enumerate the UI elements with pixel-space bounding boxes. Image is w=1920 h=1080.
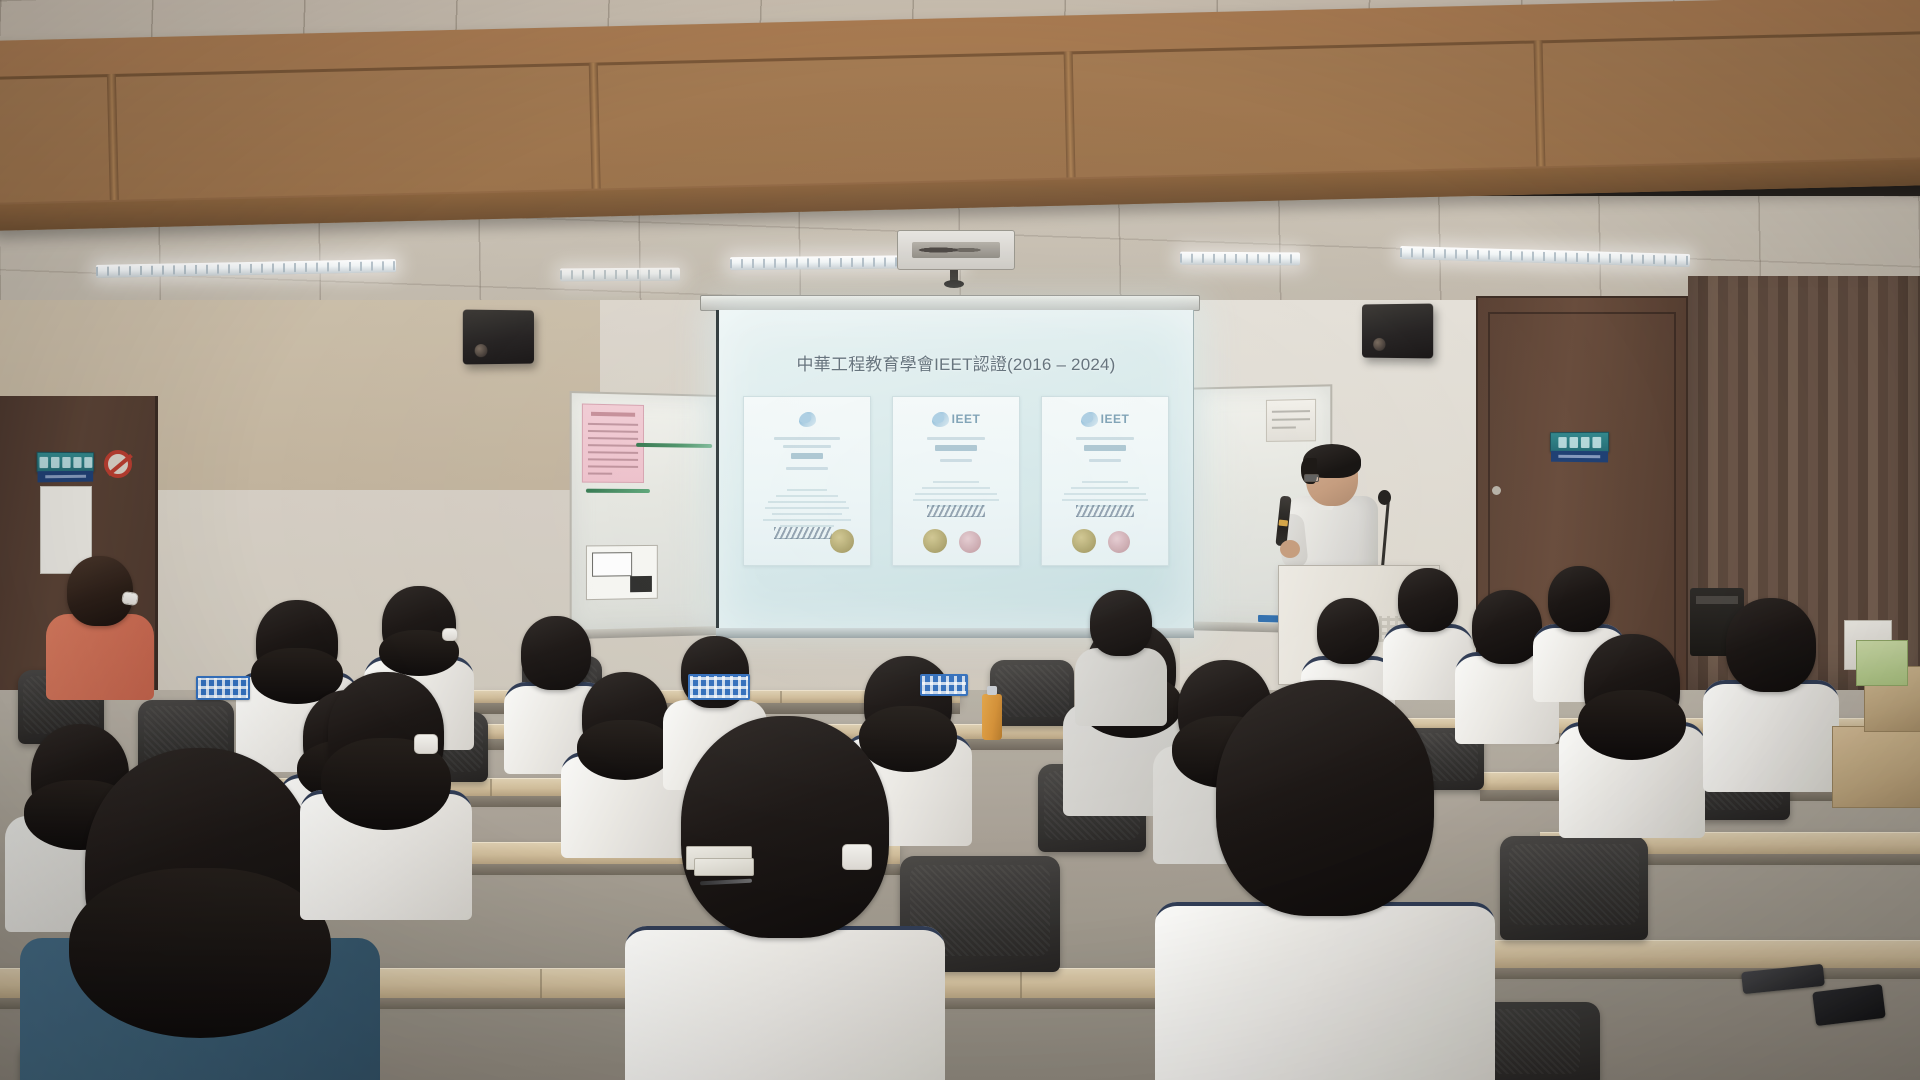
blue-basket-1[interactable] (196, 676, 250, 700)
blue-basket-3[interactable] (920, 674, 968, 696)
student-head (681, 716, 889, 938)
student-hair (69, 868, 331, 1038)
left-whiteboard (570, 391, 718, 633)
fluorescent-light-right (1180, 252, 1300, 266)
right-wall-speaker (1362, 304, 1433, 359)
whiteboard-magnet-strip-1 (636, 443, 712, 448)
face-mask (842, 844, 872, 870)
face-mask (442, 628, 458, 641)
cert1-logo (744, 408, 870, 430)
student-hair (1578, 690, 1686, 760)
drink-bottle[interactable] (982, 694, 1002, 740)
slide-title: 中華工程教育學會IEET認證(2016 – 2024) (719, 350, 1193, 375)
right-room-sign (1550, 432, 1609, 452)
cert3-logo-text: IEET (1101, 412, 1130, 426)
student-head (1726, 598, 1816, 692)
student-torso (625, 926, 945, 1080)
presenter-glasses (1304, 474, 1319, 482)
certificate-1 (743, 396, 871, 566)
cert2-red-seal (959, 531, 981, 553)
face-mask (414, 734, 438, 754)
gooseneck-mic-head (1378, 490, 1391, 505)
certificate-2: IEET (892, 396, 1020, 566)
presenter-hair (1303, 444, 1361, 478)
student-torso (1155, 902, 1495, 1080)
cert2-signature (927, 505, 985, 517)
classroom-photo-scene: 中華工程教育學會IEET認證(2016 – 2024) (0, 0, 1920, 1080)
presenter-hand (1280, 540, 1300, 558)
whiteboard-magnet-strip-2 (586, 489, 650, 493)
student-foreground-right (1150, 680, 1500, 1080)
right-door-handle[interactable] (1492, 486, 1501, 495)
face-mask (121, 591, 139, 606)
student-head (1216, 680, 1434, 916)
cardboard-box-1 (1832, 726, 1920, 808)
left-wall-speaker (463, 310, 534, 365)
certificate-3: IEET (1041, 396, 1169, 566)
cert2-logo: IEET (893, 408, 1019, 430)
student-torso (1703, 680, 1839, 792)
student (1700, 598, 1842, 788)
student-mid-left (296, 672, 476, 912)
ceiling-projector (897, 230, 1015, 270)
no-smoking-icon (104, 450, 132, 478)
left-room-sign (37, 452, 95, 472)
cert1-gold-seal (830, 529, 854, 553)
student-foreground-center (620, 716, 950, 1080)
blue-basket-2[interactable] (688, 674, 750, 700)
chair (1500, 836, 1648, 940)
cert3-red-seal (1108, 531, 1130, 553)
cert3-logo: IEET (1042, 408, 1168, 430)
cert2-gold-seal (923, 529, 947, 553)
right-whiteboard-note (1266, 399, 1316, 442)
ieet-swoosh-icon (799, 412, 816, 427)
projection-screen-housing (700, 295, 1200, 311)
student (1556, 634, 1708, 834)
fluorescent-light-back (560, 268, 680, 282)
certificate-row: IEET IEET (743, 396, 1169, 566)
green-box (1856, 640, 1908, 686)
ieet-swoosh-icon (1081, 412, 1098, 427)
student-head (1090, 590, 1152, 656)
student-head (1548, 566, 1610, 632)
cert2-logo-text: IEET (952, 412, 981, 426)
cert3-signature (1076, 505, 1134, 517)
projection-screen: 中華工程教育學會IEET認證(2016 – 2024) (716, 310, 1194, 628)
presenter (1282, 448, 1378, 573)
cert1-signature (774, 527, 832, 539)
cert3-gold-seal (1072, 529, 1096, 553)
student-head (1398, 568, 1458, 632)
floor-plan-diagram (586, 545, 658, 600)
student-torso (46, 614, 154, 700)
student-head (1317, 598, 1379, 664)
student-head (67, 556, 133, 626)
notebook-2[interactable] (694, 858, 754, 876)
student (40, 556, 160, 696)
ieet-swoosh-icon (932, 412, 949, 427)
pink-notice-poster (582, 403, 644, 483)
